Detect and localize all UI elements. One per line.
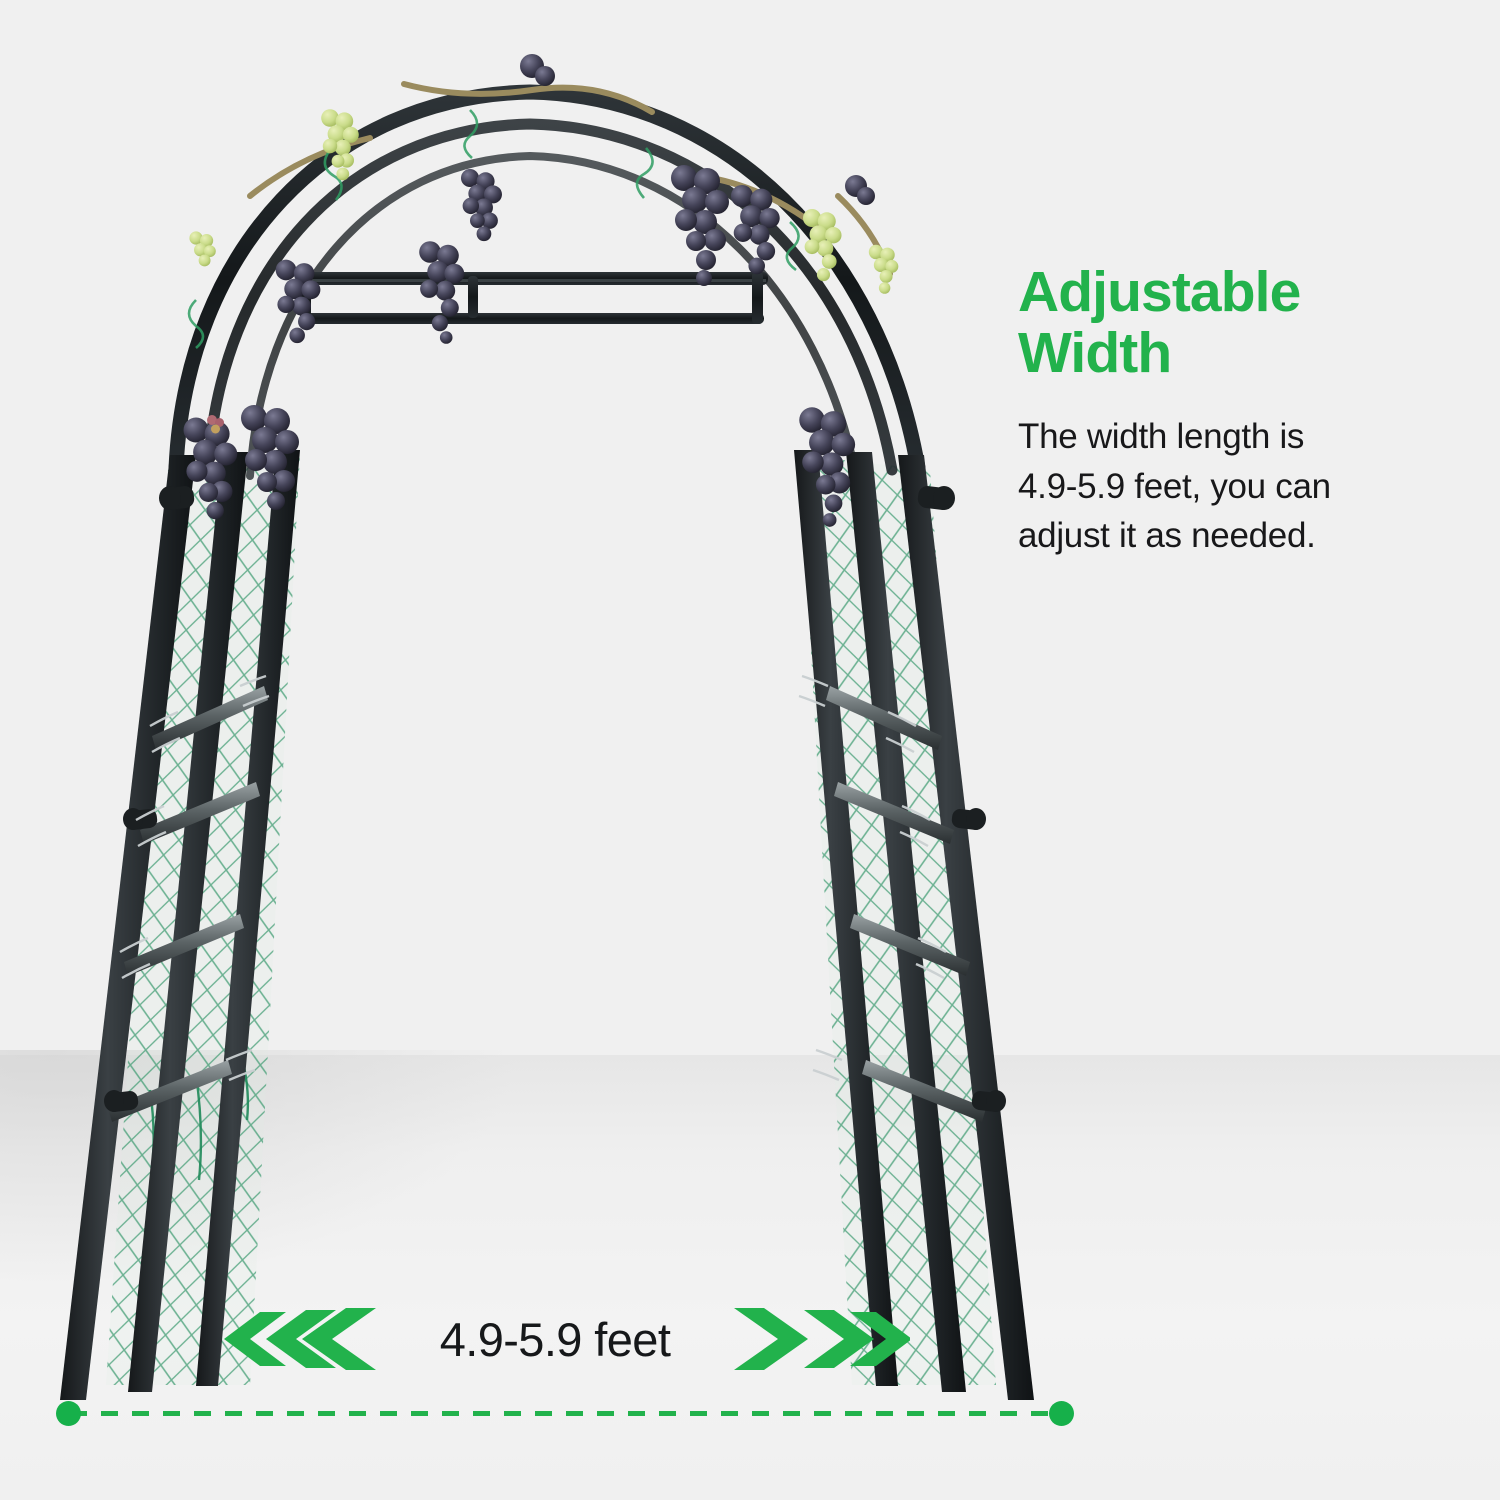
dimension-label: 4.9-5.9 feet — [440, 1312, 671, 1367]
feature-description: The width length is 4.9-5.9 feet, you ca… — [1018, 384, 1438, 561]
endpoint-dot-icon-right — [1049, 1401, 1074, 1426]
feature-copy-block: Adjustable Width The width length is 4.9… — [1018, 262, 1438, 561]
dimension-dashed-line — [70, 1411, 1060, 1416]
feature-headline: Adjustable Width — [1018, 262, 1438, 384]
triple-chevron-right-icon — [734, 1308, 910, 1370]
triple-chevron-left-icon — [200, 1308, 376, 1370]
product-feature-image: Adjustable Width The width length is 4.9… — [0, 0, 1500, 1500]
dimension-line — [56, 1406, 1074, 1420]
grape-vine-foliage — [0, 0, 978, 573]
garden-arch-trellis-image — [0, 0, 1060, 1440]
endpoint-dot-icon-left — [56, 1401, 81, 1426]
dimension-callout: 4.9-5.9 feet — [0, 1296, 1110, 1382]
